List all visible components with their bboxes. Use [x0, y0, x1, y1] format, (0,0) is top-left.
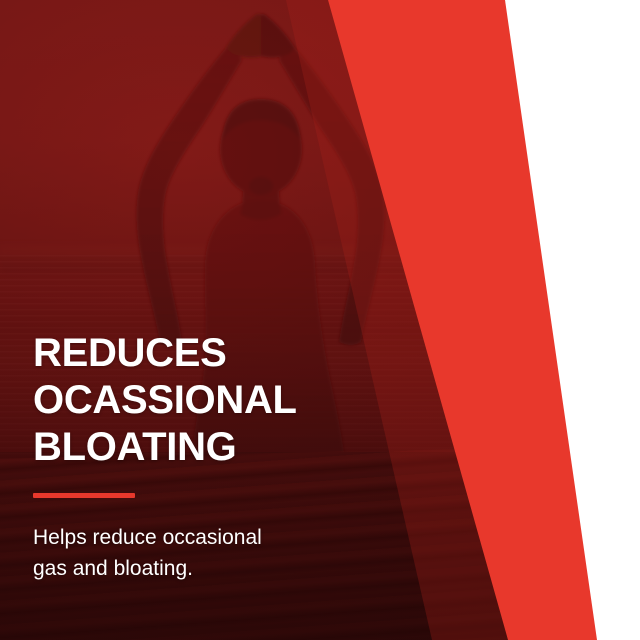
description-line-2: gas and bloating. — [33, 553, 333, 584]
promo-banner: REDUCES OCASSIONAL BLOATING Helps reduce… — [0, 0, 640, 640]
page-title: REDUCES OCASSIONAL BLOATING — [33, 330, 333, 471]
headline-line-2: OCASSIONAL — [33, 377, 333, 424]
headline-line-1: REDUCES — [33, 330, 333, 377]
description-line-1: Helps reduce occasional — [33, 522, 333, 553]
text-content-block: REDUCES OCASSIONAL BLOATING Helps reduce… — [33, 330, 333, 584]
description-text: Helps reduce occasional gas and bloating… — [33, 522, 333, 584]
headline-line-3: BLOATING — [33, 424, 333, 471]
accent-divider — [33, 493, 135, 498]
